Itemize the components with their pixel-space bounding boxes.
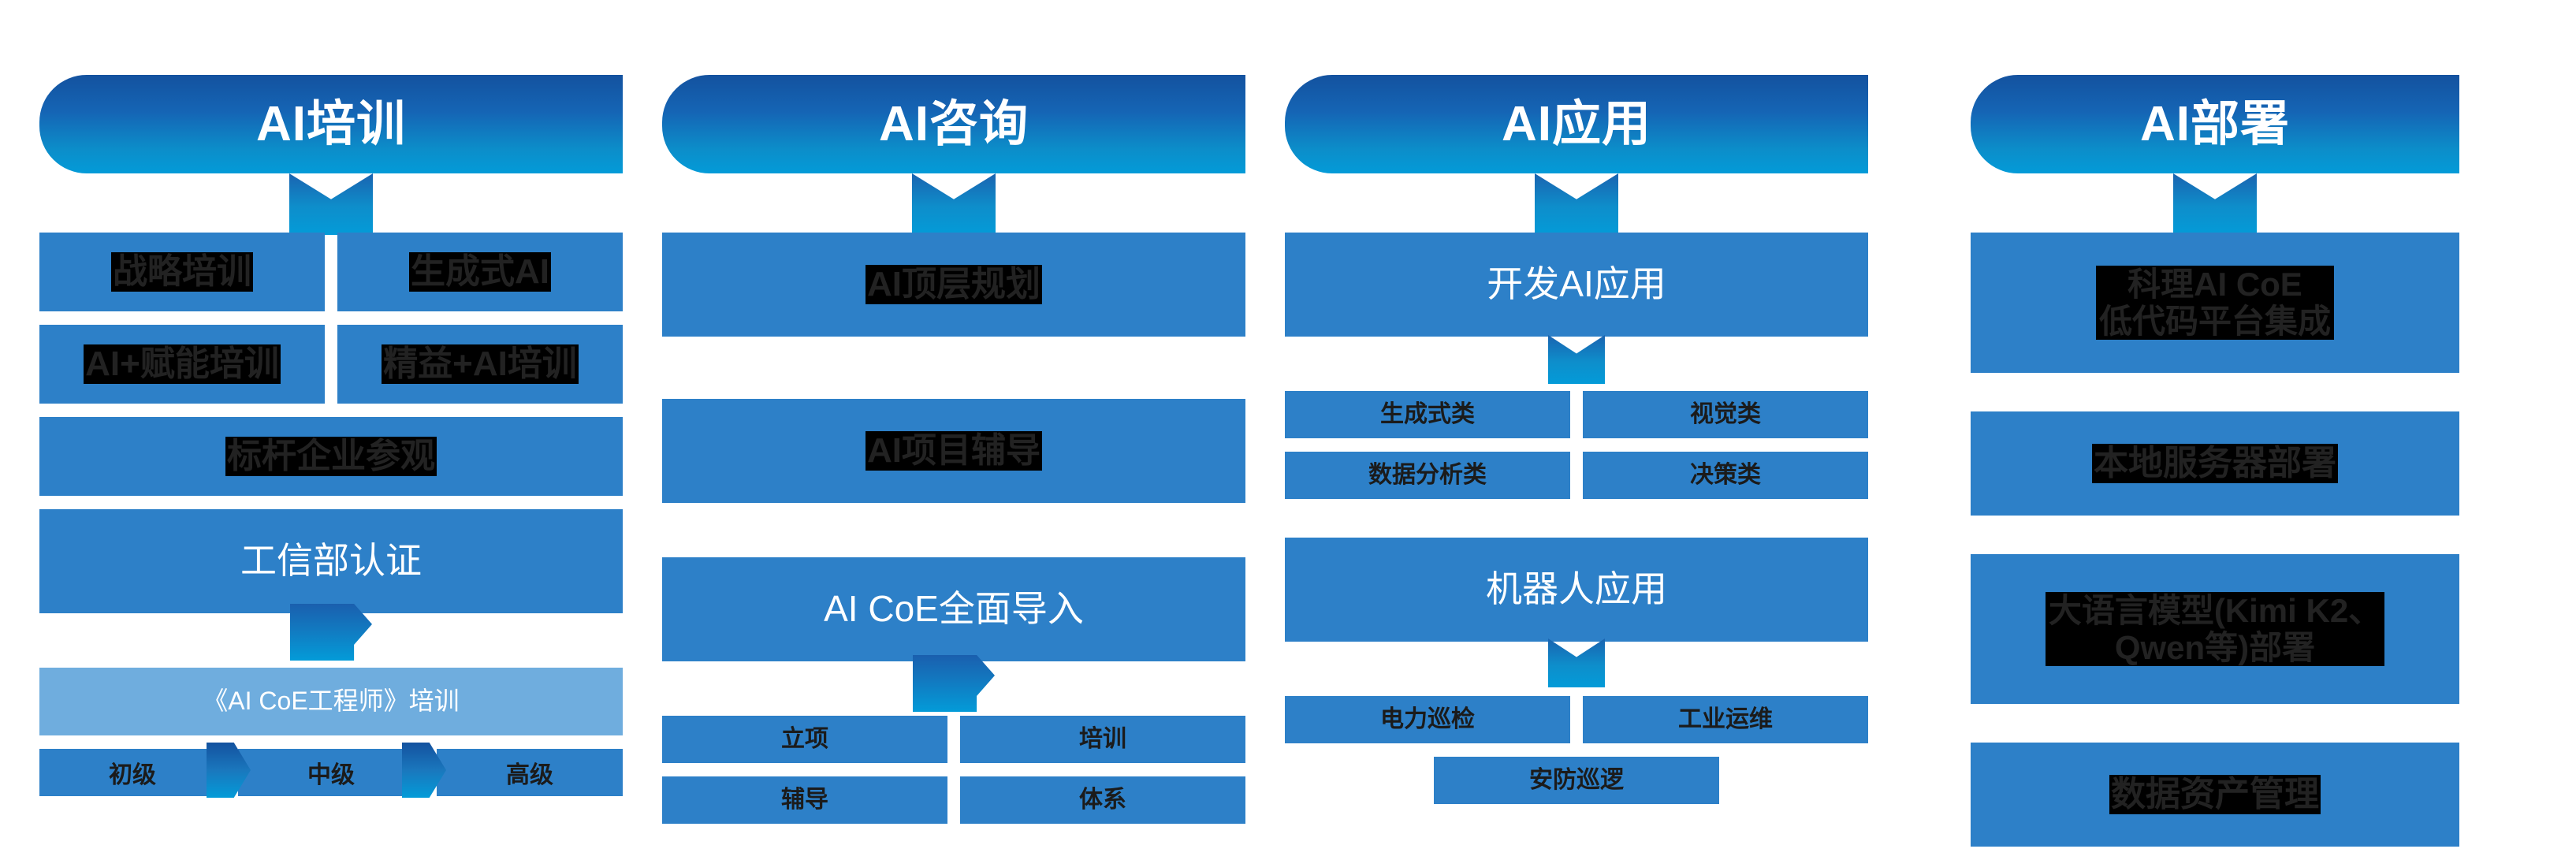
list-item[interactable]: 开发AI应用 [1285,233,1868,337]
cell-label: 科理AI CoE 低代码平台集成 [2096,266,2334,340]
down-chevron-icon [912,173,996,235]
list-item[interactable]: 立项 [662,716,947,763]
table-row: AI CoE全面导入 [662,557,1245,661]
table-row: 标杆企业参观 [39,417,623,496]
column-ai-application: AI应用 开发AI应用 生成式类 视觉类 [1285,75,1868,817]
list-item[interactable]: AI+赋能培训 [39,325,325,404]
cell-label: 生成式类 [1380,401,1475,428]
cell-label: 决策类 [1690,462,1761,489]
table-row: 电力巡检 工业运维 [1285,696,1868,743]
table-row: 辅导 体系 [662,776,1245,824]
table-row: 战略培训 生成式AI [39,233,623,311]
cell-label: 视觉类 [1690,401,1761,428]
down-chevron-icon [1548,335,1605,384]
level-item-beginner[interactable]: 初级 [39,749,225,796]
list-item[interactable]: 生成式AI [337,233,623,311]
cell-label: 《AI CoE工程师》培训 [203,687,459,716]
column-title: AI部署 [2140,100,2290,149]
list-item[interactable]: 工业运维 [1583,696,1868,743]
table-row: 安防巡逻 [1285,757,1868,804]
cell-label: 工信部认证 [240,541,422,582]
table-row: 本地服务器部署 [1971,411,2459,516]
table-row: 科理AI CoE 低代码平台集成 [1971,233,2459,373]
level-item-intermediate[interactable]: 中级 [238,749,424,796]
list-item[interactable]: 体系 [960,776,1245,824]
spacer [1971,717,2459,743]
level-label: 高级 [506,755,553,790]
spacer [662,350,1245,399]
rows-ai-deployment: 科理AI CoE 低代码平台集成 本地服务器部署 大语言模型(Kimi K2、 … [1971,233,2459,847]
table-row: 《AI CoE工程师》培训 [39,668,623,735]
list-item[interactable]: 数据资产管理 [1971,743,2459,847]
cell-label: AI+赋能培训 [84,344,281,383]
table-row: 开发AI应用 [1285,233,1868,337]
cell-label: 安防巡逻 [1529,767,1624,794]
list-item[interactable]: 战略培训 [39,233,325,311]
table-row: AI+赋能培训 精益+AI培训 [39,325,623,404]
list-item[interactable]: 决策类 [1583,452,1868,499]
banner-ai-application: AI应用 [1285,75,1868,233]
list-item[interactable]: 《AI CoE工程师》培训 [39,668,623,735]
banner-bar: AI培训 [39,75,623,173]
table-row: 大语言模型(Kimi K2、 Qwen等)部署 [1971,554,2459,704]
table-row: AI项目辅导 [662,399,1245,503]
cell-label: 培训 [1079,726,1126,753]
level-item-advanced[interactable]: 高级 [437,749,623,796]
table-row: 立项 培训 [662,716,1245,763]
cell-label: 标杆企业参观 [225,437,437,475]
cell-label: AI顶层规划 [865,265,1042,303]
list-item[interactable]: 本地服务器部署 [1971,411,2459,516]
column-ai-deployment: AI部署 科理AI CoE 低代码平台集成 本地服务器部署 大语言模型(Kimi… [1971,75,2459,860]
table-row: 工信部认证 [39,509,623,613]
list-item[interactable]: 数据分析类 [1285,452,1570,499]
down-chevron-icon [289,173,373,235]
cell-label: 战略培训 [111,252,253,291]
table-row: 数据资产管理 [1971,743,2459,847]
spacer [1285,512,1868,538]
level-label: 初级 [109,755,156,790]
cell-label: AI项目辅导 [865,431,1042,470]
spacer [1971,386,2459,411]
banner-bar: AI部署 [1971,75,2459,173]
banner-ai-consulting: AI咨询 [662,75,1245,233]
cell-label: 开发AI应用 [1487,264,1666,305]
cell-label: 体系 [1079,787,1126,813]
column-title: AI培训 [256,100,406,149]
list-item[interactable]: 生成式类 [1285,391,1570,438]
column-title: AI咨询 [879,100,1029,149]
list-item[interactable]: AI项目辅导 [662,399,1245,503]
rows-ai-application: 开发AI应用 生成式类 视觉类 数据分析类 决策类 [1285,233,1868,804]
column-ai-training: AI培训 战略培训 生成式AI AI+赋能培训 精益+AI培训 [39,75,623,796]
rows-ai-consulting: AI顶层规划 AI项目辅导 AI CoE全面导入 立项 [662,233,1245,824]
list-item[interactable]: 科理AI CoE 低代码平台集成 [1971,233,2459,373]
cell-label: 生成式AI [409,252,551,291]
table-row: 生成式类 视觉类 [1285,391,1868,438]
list-item[interactable]: 机器人应用 [1285,538,1868,642]
roadmap-board: AI培训 战略培训 生成式AI AI+赋能培训 精益+AI培训 [0,0,2576,833]
list-item[interactable]: 辅导 [662,776,947,824]
list-item[interactable]: AI顶层规划 [662,233,1245,337]
cell-label: 电力巡检 [1380,706,1475,733]
list-item[interactable]: 工信部认证 [39,509,623,613]
list-item[interactable]: AI CoE全面导入 [662,557,1245,661]
list-item[interactable]: 视觉类 [1583,391,1868,438]
column-ai-consulting: AI咨询 AI顶层规划 AI项目辅导 AI CoE全面导入 [662,75,1245,837]
level-strip: 初级 中级 高级 [39,749,623,796]
cell-label: 立项 [781,726,828,753]
rows-ai-training: 战略培训 生成式AI AI+赋能培训 精益+AI培训 标杆企业参观 [39,233,623,796]
table-row: AI顶层规划 [662,233,1245,337]
level-label: 中级 [307,755,355,790]
table-row: 机器人应用 [1285,538,1868,642]
cell-label: 大语言模型(Kimi K2、 Qwen等)部署 [2046,592,2384,666]
cell-label: 精益+AI培训 [382,344,579,383]
banner-ai-deployment: AI部署 [1971,75,2459,233]
list-item[interactable]: 电力巡检 [1285,696,1570,743]
spacer [1971,529,2459,554]
list-item[interactable]: 大语言模型(Kimi K2、 Qwen等)部署 [1971,554,2459,704]
list-item[interactable]: 标杆企业参观 [39,417,623,496]
banner-ai-training: AI培训 [39,75,623,233]
spacer [662,516,1245,557]
banner-bar: AI咨询 [662,75,1245,173]
table-row: 数据分析类 决策类 [1285,452,1868,499]
list-item[interactable]: 安防巡逻 [1434,757,1719,804]
cell-label: 本地服务器部署 [2092,444,2338,482]
cell-label: AI CoE全面导入 [824,589,1084,630]
cell-label: 辅导 [781,787,828,813]
down-chevron-icon [1548,638,1605,687]
cell-label: 数据分析类 [1368,462,1487,489]
down-chevron-icon [1535,173,1618,235]
cell-label: 工业运维 [1678,706,1773,733]
cell-label: 数据资产管理 [2109,775,2321,813]
down-chevron-icon [2173,173,2257,235]
cell-label: 机器人应用 [1486,569,1667,610]
list-item[interactable]: 精益+AI培训 [337,325,623,404]
banner-bar: AI应用 [1285,75,1868,173]
list-item[interactable]: 培训 [960,716,1245,763]
column-title: AI应用 [1502,100,1651,149]
